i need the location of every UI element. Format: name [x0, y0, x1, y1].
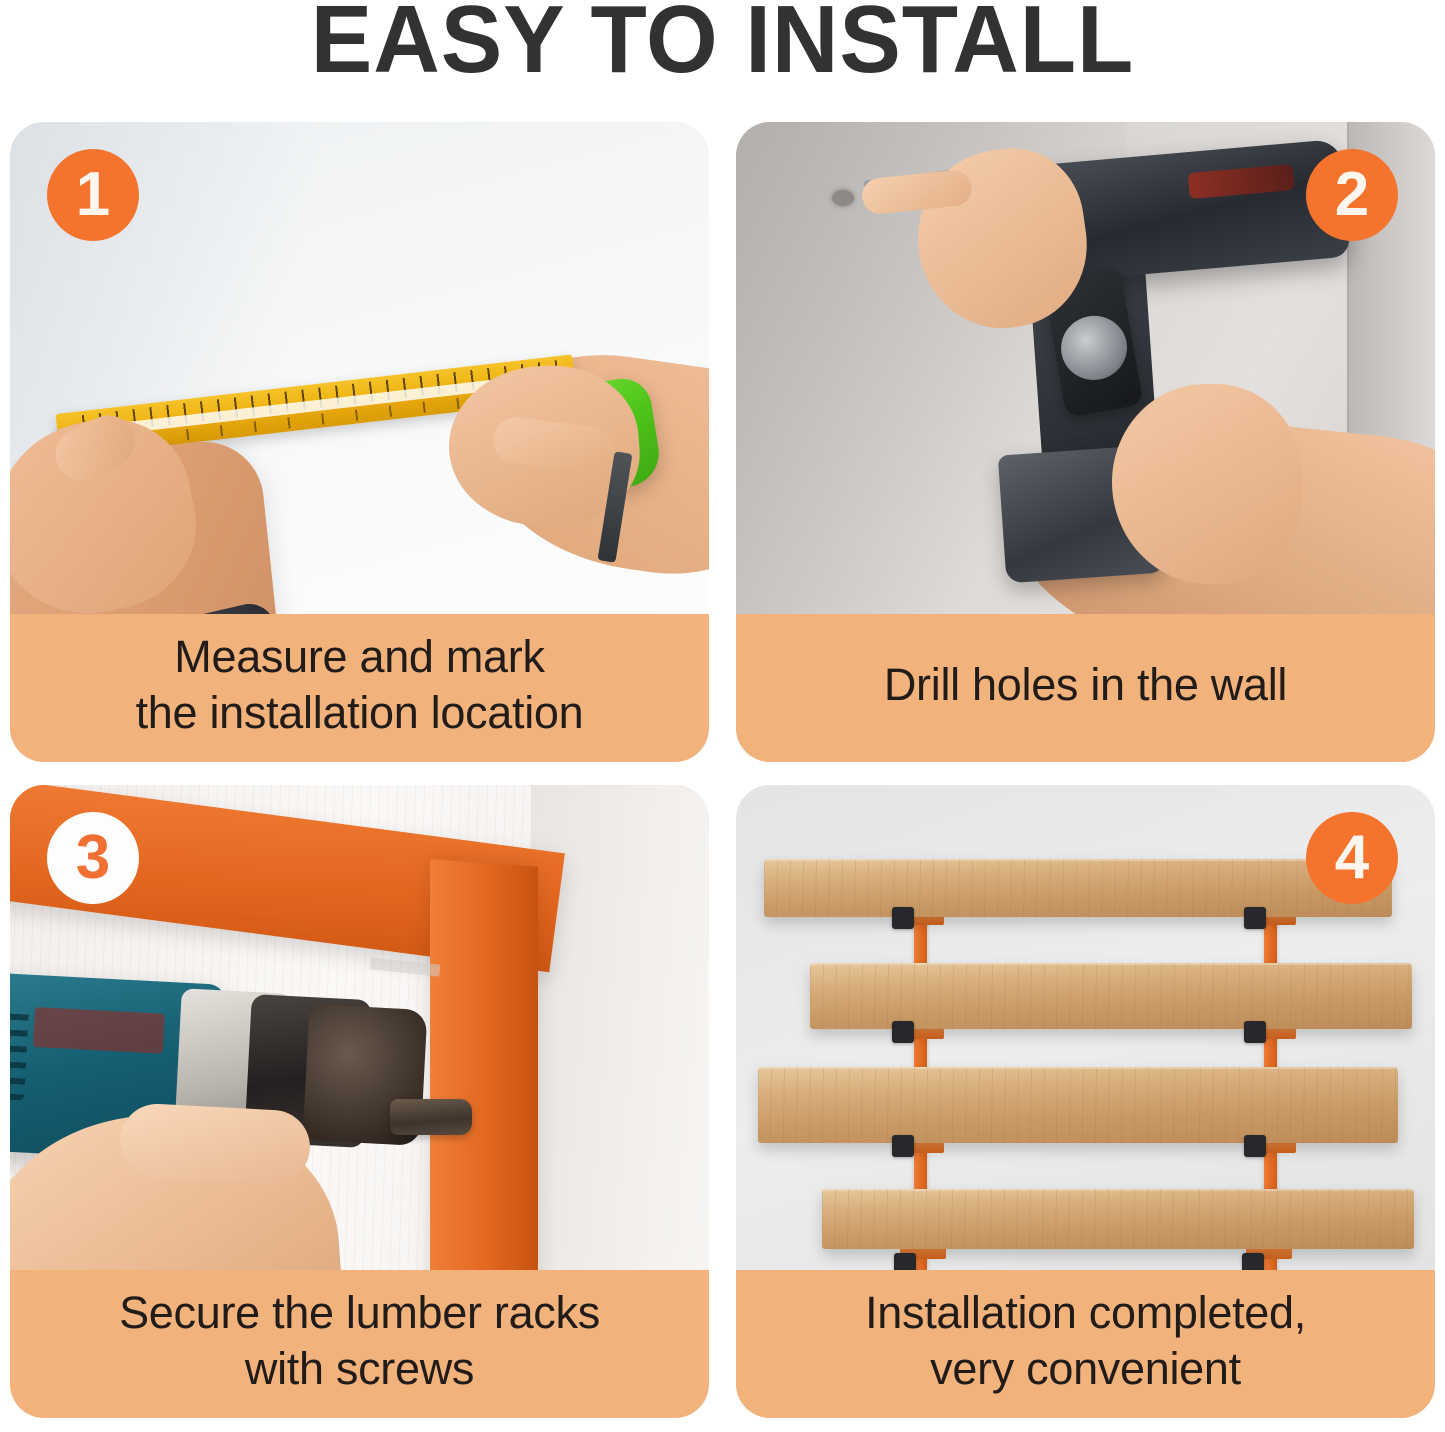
- step-card-1: 1 Measure and mark the installation loca…: [10, 122, 709, 762]
- wood-grain: [764, 859, 1392, 917]
- lumber-board-1: [764, 859, 1392, 917]
- rack-end-cap-tier3-left: [892, 1135, 914, 1157]
- step-caption-3-text: Secure the lumber racks with screws: [119, 1285, 600, 1397]
- step-badge-2: 2: [1306, 149, 1398, 241]
- drill-vents: [10, 1001, 29, 1101]
- step-caption-4-text: Installation completed, very convenient: [865, 1285, 1306, 1397]
- wood-grain: [758, 1067, 1398, 1143]
- drill-brand-label: [33, 1007, 165, 1054]
- steps-grid: 1 Measure and mark the installation loca…: [10, 122, 1435, 1418]
- rack-end-cap-tier1-right: [1244, 907, 1266, 929]
- drilled-hole-mark: [832, 190, 854, 206]
- page-title: EASY TO INSTALL: [29, 0, 1416, 94]
- step-caption-2: Drill holes in the wall: [736, 614, 1435, 762]
- screw-in-bracket: [390, 1099, 472, 1135]
- lumber-board-4: [822, 1189, 1414, 1249]
- step-caption-1-text: Measure and mark the installation locati…: [136, 629, 584, 741]
- infographic-page: EASY TO INSTALL: [0, 0, 1445, 1432]
- drill-accent-stripe: [1188, 164, 1295, 199]
- step-badge-4: 4: [1306, 812, 1398, 904]
- wood-grain: [822, 1189, 1414, 1249]
- step-badge-3: 3: [47, 812, 139, 904]
- rack-end-cap-tier2-right: [1244, 1021, 1266, 1043]
- step-badge-1: 1: [47, 149, 139, 241]
- rack-end-cap-tier1-left: [892, 907, 914, 929]
- rack-end-cap-tier3-right: [1244, 1135, 1266, 1157]
- gripping-hand: [1112, 384, 1302, 584]
- step-caption-3: Secure the lumber racks with screws: [10, 1270, 709, 1418]
- step-card-4: 4 Installation completed, very convenien…: [736, 785, 1435, 1418]
- index-finger: [118, 1102, 312, 1186]
- step-caption-1: Measure and mark the installation locati…: [10, 614, 709, 762]
- lumber-board-2: [810, 963, 1412, 1029]
- step-card-2: 2 Drill holes in the wall: [736, 122, 1435, 762]
- step-caption-2-text: Drill holes in the wall: [884, 657, 1287, 713]
- step-caption-4: Installation completed, very convenient: [736, 1270, 1435, 1418]
- step-card-3: 3 Secure the lumber racks with screws: [10, 785, 709, 1418]
- wood-grain: [810, 963, 1412, 1029]
- rack-end-cap-tier2-left: [892, 1021, 914, 1043]
- lumber-board-3: [758, 1067, 1398, 1143]
